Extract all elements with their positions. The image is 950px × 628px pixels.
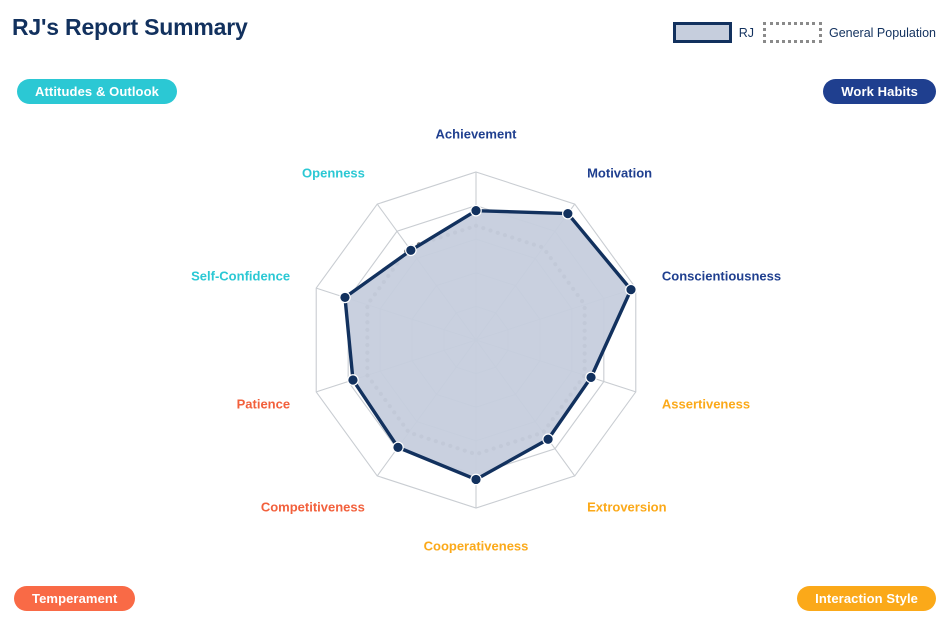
axis-label-extroversion: Extroversion — [587, 499, 666, 514]
data-point-patience — [348, 375, 358, 385]
axis-label-competitiveness: Competitiveness — [261, 499, 365, 514]
radar-chart: AchievementMotivationConscientiousnessAs… — [0, 0, 950, 628]
data-point-self-confidence — [340, 292, 350, 302]
data-point-extroversion — [543, 434, 553, 444]
axis-label-motivation: Motivation — [587, 166, 652, 181]
axis-label-assertiveness: Assertiveness — [662, 396, 750, 411]
data-point-openness — [406, 245, 416, 255]
data-point-motivation — [563, 208, 573, 218]
data-point-cooperativeness — [471, 474, 481, 484]
axis-label-achievement: Achievement — [436, 127, 517, 142]
axis-label-openness: Openness — [302, 166, 365, 181]
data-point-achievement — [471, 205, 481, 215]
axis-label-cooperativeness: Cooperativeness — [424, 539, 529, 554]
axis-label-conscientiousness: Conscientiousness — [662, 269, 781, 284]
radar-chart-svg — [0, 0, 950, 628]
data-point-conscientiousness — [626, 284, 636, 294]
axis-label-patience: Patience — [237, 396, 290, 411]
series-rj-area — [345, 211, 631, 480]
data-point-assertiveness — [586, 372, 596, 382]
series-rj — [345, 211, 631, 480]
axis-label-self-confidence: Self-Confidence — [191, 269, 290, 284]
data-point-competitiveness — [393, 442, 403, 452]
